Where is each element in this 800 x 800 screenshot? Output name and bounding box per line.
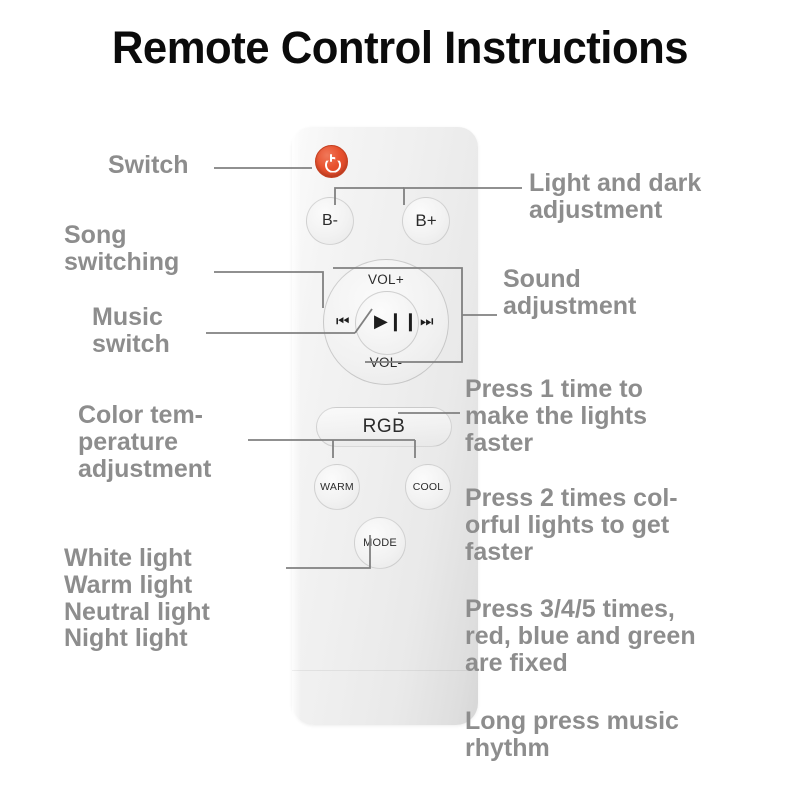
mode-button[interactable]: MODE	[354, 517, 406, 569]
power-button[interactable]	[315, 145, 348, 178]
page-title: Remote Control Instructions	[12, 22, 788, 74]
brightness-up-label: B+	[415, 211, 436, 231]
brightness-up-button[interactable]: B+	[402, 197, 450, 245]
callout-press-1: Press 1 time to make the lights faster	[465, 376, 647, 456]
mode-label: MODE	[363, 537, 397, 549]
callout-song-switching: Song switching	[64, 222, 179, 276]
callout-sound: Sound adjustment	[503, 266, 636, 320]
callout-music-switch: Music switch	[92, 304, 170, 358]
callout-color-temperature: Color tem- perature adjustment	[78, 402, 211, 482]
volume-down-label[interactable]: VOL-	[324, 355, 448, 370]
brightness-down-label: B-	[322, 212, 338, 230]
play-pause-icon[interactable]: ▶❙❙	[374, 312, 418, 330]
callout-light-modes: White light Warm light Neutral light Nig…	[64, 545, 210, 652]
warm-label: WARM	[320, 481, 354, 493]
callout-switch: Switch	[108, 152, 189, 179]
remote-edge-highlight	[292, 127, 301, 725]
volume-up-label[interactable]: VOL+	[324, 272, 448, 287]
brightness-down-button[interactable]: B-	[306, 197, 354, 245]
callout-light-and-dark: Light and dark adjustment	[529, 170, 701, 224]
cool-label: COOL	[413, 481, 444, 493]
remote-control-body: B- B+ VOL+ VOL- ⏮ ⏭ ▶❙❙ RGB WARM COOL MO…	[292, 127, 478, 725]
callout-press-2: Press 2 times col- orful lights to get f…	[465, 485, 678, 565]
cool-button[interactable]: COOL	[405, 464, 451, 510]
power-icon	[324, 154, 339, 169]
previous-track-icon[interactable]: ⏮	[336, 314, 350, 329]
rgb-button[interactable]: RGB	[316, 407, 452, 447]
next-track-icon[interactable]: ⏭	[420, 314, 434, 329]
rgb-label: RGB	[363, 416, 406, 438]
volume-directional-pad[interactable]: VOL+ VOL- ⏮ ⏭ ▶❙❙	[323, 259, 449, 385]
warm-button[interactable]: WARM	[314, 464, 360, 510]
battery-cover-seam	[292, 670, 478, 671]
instruction-diagram: Remote Control Instructions B- B+ VOL+ V…	[0, 0, 800, 800]
callout-long-press: Long press music rhythm	[465, 708, 679, 762]
callout-press-345: Press 3/4/5 times, red, blue and green a…	[465, 596, 696, 676]
